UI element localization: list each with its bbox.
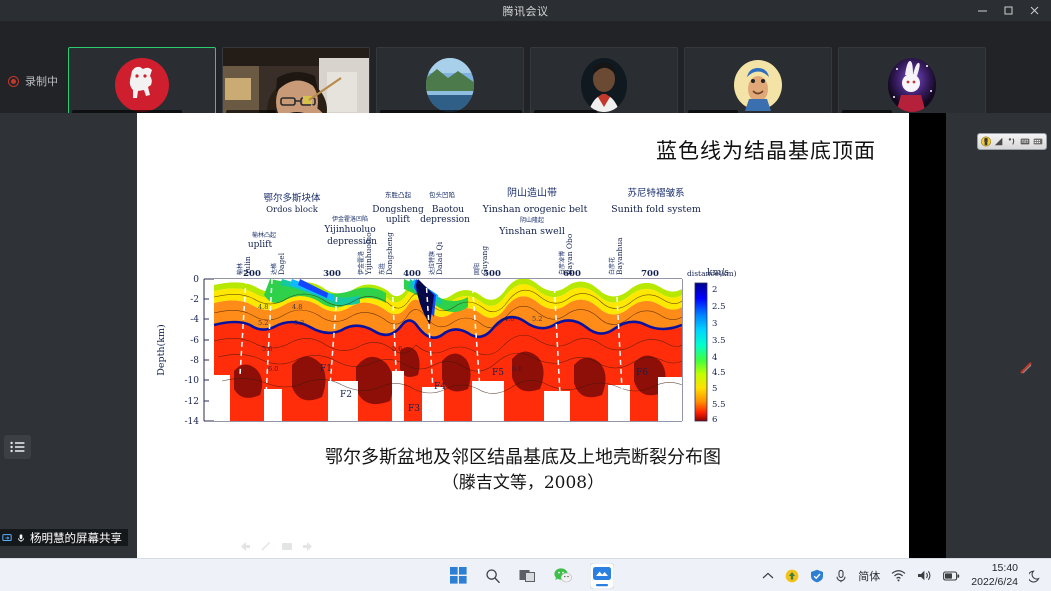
powerpoint-slide[interactable]: 蓝色线为结晶基底顶面 (137, 113, 909, 558)
svg-text:-2: -2 (190, 295, 199, 305)
participants-list-button[interactable] (4, 435, 31, 459)
svg-text:Ordos block: Ordos block (266, 205, 319, 215)
close-button[interactable] (1021, 0, 1047, 21)
svg-text:200: 200 (243, 269, 261, 279)
svg-text:Dagel: Dagel (277, 252, 286, 275)
windows-taskbar: 简体 15:40 2022/6/24 (0, 558, 1051, 591)
prev-slide-icon[interactable] (239, 539, 251, 550)
svg-text:Yijinhuoluo: Yijinhuoluo (364, 232, 373, 276)
windows-start-icon[interactable] (450, 567, 467, 584)
taskbar-clock[interactable]: 15:40 2022/6/24 (971, 562, 1018, 588)
mic-icon[interactable] (835, 569, 847, 583)
slide-caption: 鄂尔多斯盆地及邻区结晶基底及上地壳断裂分布图 （滕吉文等，2008） (137, 445, 909, 496)
annotation-marker-icon (1019, 361, 1033, 375)
svg-text:2: 2 (712, 285, 717, 295)
svg-text:4.8: 4.8 (258, 303, 268, 311)
svg-text:500: 500 (483, 269, 501, 279)
svg-text:F2: F2 (340, 390, 352, 400)
search-icon[interactable] (485, 568, 501, 584)
ppt-navigation-bar[interactable] (239, 539, 314, 550)
svg-text:F4: F4 (434, 382, 446, 392)
svg-text:5.2: 5.2 (532, 315, 542, 323)
ime-toolbox-icon[interactable] (1033, 136, 1043, 147)
svg-text:4.5: 4.5 (712, 368, 726, 378)
caption-line-1: 鄂尔多斯盆地及邻区结晶基底及上地壳断裂分布图 (137, 445, 909, 471)
shared-screen-stage: 杨明慧的屏幕共享 (0, 113, 1051, 558)
svg-text:km/s: km/s (707, 268, 729, 278)
svg-text:-10: -10 (185, 376, 200, 386)
svg-text:4.8: 4.8 (292, 303, 302, 311)
caption-line-2: （滕吉文等，2008） (137, 471, 909, 496)
svg-text:F1: F1 (320, 364, 332, 374)
svg-text:Dalad Qi: Dalad Qi (435, 241, 444, 275)
svg-text:阴山造山带: 阴山造山带 (507, 186, 557, 199)
svg-text:depression: depression (420, 215, 470, 225)
task-view-icon[interactable] (519, 568, 536, 584)
svg-text:F5: F5 (492, 368, 504, 378)
svg-text:6: 6 (712, 415, 717, 425)
svg-text:600: 600 (563, 269, 581, 279)
minimize-button[interactable] (969, 0, 995, 21)
svg-text:Sunith fold system: Sunith fold system (611, 204, 701, 215)
volume-icon[interactable] (917, 569, 932, 582)
svg-text:-8: -8 (190, 356, 199, 366)
svg-text:5.2: 5.2 (258, 319, 268, 327)
svg-text:-4: -4 (190, 315, 199, 325)
ime-language-icon[interactable] (981, 136, 991, 147)
slide-menu-icon[interactable] (281, 539, 293, 550)
tencent-meeting-icon[interactable] (590, 563, 614, 589)
avatar (425, 57, 475, 113)
svg-text:F6: F6 (636, 368, 648, 378)
slide-title: 蓝色线为结晶基底顶面 (656, 135, 876, 165)
clock-date: 2022/6/24 (971, 576, 1018, 589)
ime-signal-icon[interactable] (994, 136, 1004, 147)
svg-text:0: 0 (193, 275, 199, 285)
svg-text:阴山隆起: 阴山隆起 (520, 216, 544, 224)
svg-text:6.0: 6.0 (512, 365, 522, 373)
colorbar (695, 283, 707, 421)
security-icon[interactable] (810, 569, 824, 583)
svg-text:Yinshan orogenic belt: Yinshan orogenic belt (482, 204, 588, 215)
svg-text:5.6: 5.6 (392, 345, 402, 353)
svg-text:Dongsheng: Dongsheng (385, 232, 394, 275)
next-slide-icon[interactable] (302, 539, 314, 550)
svg-text:东胜凸起: 东胜凸起 (385, 190, 412, 199)
svg-text:固阳: 固阳 (473, 263, 481, 275)
taskbar-system-tray: 简体 15:40 2022/6/24 (762, 559, 1041, 591)
svg-text:5.6: 5.6 (262, 345, 272, 353)
svg-text:东胜: 东胜 (378, 263, 386, 275)
ime-mode-label[interactable]: 简体 (858, 568, 880, 584)
chevron-up-icon[interactable] (762, 571, 774, 581)
svg-text:F3: F3 (408, 404, 420, 414)
pen-icon[interactable] (260, 539, 272, 550)
window-controls (969, 0, 1047, 21)
svg-text:5.2: 5.2 (294, 319, 304, 327)
recording-label: 录制中 (25, 73, 58, 89)
maximize-button[interactable] (995, 0, 1021, 21)
share-status-label: 杨明慧的屏幕共享 (30, 530, 122, 546)
svg-text:5.5: 5.5 (712, 400, 726, 410)
avatar (114, 57, 170, 113)
svg-text:3: 3 (712, 319, 717, 329)
record-dot-icon (8, 76, 19, 87)
svg-text:2.5: 2.5 (712, 302, 726, 312)
svg-text:伊金霍洛: 伊金霍洛 (357, 251, 365, 275)
taskbar-pinned-apps (450, 559, 614, 591)
battery-icon[interactable] (943, 570, 960, 582)
svg-text:300: 300 (323, 269, 341, 279)
svg-text:6.0: 6.0 (268, 365, 278, 373)
svg-text:Dongsheng: Dongsheng (372, 205, 424, 215)
svg-text:5: 5 (712, 384, 717, 394)
wechat-icon[interactable] (554, 567, 572, 584)
svg-text:Baotou: Baotou (432, 205, 464, 215)
svg-text:-12: -12 (185, 397, 200, 407)
clock-time: 15:40 (992, 562, 1018, 575)
stage-left-panel: 杨明慧的屏幕共享 (0, 113, 137, 558)
svg-text:鄂尔多斯块体: 鄂尔多斯块体 (263, 192, 321, 204)
svg-text:-6: -6 (190, 336, 199, 346)
svg-text:白彦花: 白彦花 (608, 257, 616, 275)
share-status-tag: 杨明慧的屏幕共享 (0, 529, 128, 546)
svg-text:700: 700 (641, 269, 659, 279)
moon-icon[interactable] (1029, 569, 1041, 583)
svg-text:达拉特旗: 达拉特旗 (428, 251, 436, 275)
participant-strip: 录制中 (0, 21, 1051, 113)
svg-text:-14: -14 (185, 417, 200, 427)
list-icon (10, 441, 25, 453)
title-bar: 腾讯会议 (0, 0, 1051, 21)
stage-right-panel (946, 113, 1051, 558)
svg-text:包头凹陷: 包头凹陷 (429, 190, 455, 199)
avatar (580, 57, 628, 113)
update-icon[interactable] (785, 569, 799, 583)
recording-indicator: 录制中 (8, 73, 58, 89)
ime-punctuation-icon[interactable] (1007, 136, 1017, 147)
svg-text:Yinshan swell: Yinshan swell (498, 226, 565, 237)
ime-floating-toolbar[interactable] (977, 133, 1047, 150)
svg-text:400: 400 (403, 269, 421, 279)
screen-share-icon (2, 533, 12, 543)
svg-text:4.8: 4.8 (504, 315, 514, 323)
svg-text:苏尼特褶皱系: 苏尼特褶皱系 (627, 187, 684, 199)
window-title: 腾讯会议 (503, 3, 549, 19)
wifi-icon[interactable] (891, 569, 906, 582)
svg-text:榆林凸起: 榆林凸起 (252, 231, 276, 239)
seismic-velocity-figure: 鄂尔多斯块体 Ordos block 东胜凸起 包头凹陷 Dongsheng B… (142, 175, 822, 437)
svg-text:达格: 达格 (270, 263, 278, 275)
avatar (733, 59, 783, 111)
tencent-meeting-window: 腾讯会议 录制中 (0, 0, 1051, 591)
svg-text:3.5: 3.5 (712, 336, 726, 346)
svg-text:4: 4 (712, 353, 717, 363)
velocity-section-chart: 鄂尔多斯块体 Ordos block 东胜凸起 包头凹陷 Dongsheng B… (142, 175, 822, 437)
svg-text:Bayanhua: Bayanhua (615, 237, 624, 275)
svg-text:uplift: uplift (386, 215, 411, 225)
ime-keyboard-icon[interactable] (1020, 136, 1030, 147)
svg-text:伊金霍洛凹陷: 伊金霍洛凹陷 (332, 215, 368, 223)
avatar (887, 57, 937, 113)
svg-text:uplift: uplift (248, 240, 273, 250)
mic-icon (16, 533, 26, 543)
svg-text:Depth(km): Depth(km) (156, 324, 167, 375)
